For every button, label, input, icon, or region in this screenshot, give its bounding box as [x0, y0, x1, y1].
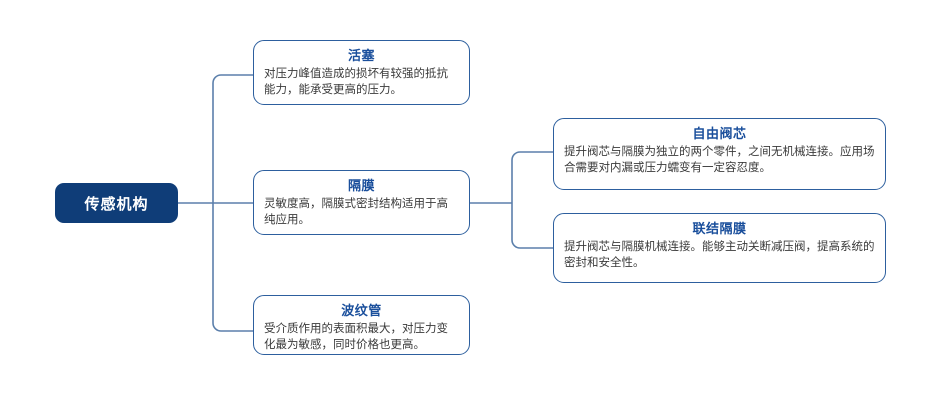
branch-node-title: 隔膜: [264, 177, 459, 194]
root-node-label: 传感机构: [84, 193, 148, 214]
subbranch-node-title: 联结隔膜: [564, 220, 875, 237]
subbranch-node-free-valve-core[interactable]: 自由阀芯 提升阀芯与隔膜为独立的两个零件，之间无机械连接。应用场合需要对内漏或压…: [553, 118, 886, 190]
branch-node-description: 对压力峰值造成的损坏有较强的抵抗能力，能承受更高的压力。: [264, 66, 459, 98]
subbranch-node-description: 提升阀芯与隔膜为独立的两个零件，之间无机械连接。应用场合需要对内漏或压力蠕变有一…: [564, 144, 875, 176]
branch-node-diaphragm[interactable]: 隔膜 灵敏度高，隔膜式密封结构适用于高纯应用。: [253, 170, 470, 235]
branch-node-description: 受介质作用的表面积最大，对压力变化最为敏感，同时价格也更高。: [264, 321, 459, 353]
subbranch-node-linked-diaphragm[interactable]: 联结隔膜 提升阀芯与隔膜机械连接。能够主动关断减压阀，提高系统的密封和安全性。: [553, 213, 886, 283]
branch-node-title: 波纹管: [264, 302, 459, 319]
branch-node-title: 活塞: [264, 47, 459, 64]
subbranch-node-title: 自由阀芯: [564, 125, 875, 142]
root-node-sensing-mechanism[interactable]: 传感机构: [55, 183, 178, 223]
branch-node-bellows[interactable]: 波纹管 受介质作用的表面积最大，对压力变化最为敏感，同时价格也更高。: [253, 295, 470, 355]
connector-right-bracket: [512, 152, 553, 248]
subbranch-node-description: 提升阀芯与隔膜机械连接。能够主动关断减压阀，提高系统的密封和安全性。: [564, 239, 875, 271]
connector-left-bracket: [213, 75, 253, 331]
branch-node-piston[interactable]: 活塞 对压力峰值造成的损坏有较强的抵抗能力，能承受更高的压力。: [253, 40, 470, 105]
diagram-canvas: 传感机构 活塞 对压力峰值造成的损坏有较强的抵抗能力，能承受更高的压力。 隔膜 …: [0, 0, 940, 400]
branch-node-description: 灵敏度高，隔膜式密封结构适用于高纯应用。: [264, 196, 459, 228]
